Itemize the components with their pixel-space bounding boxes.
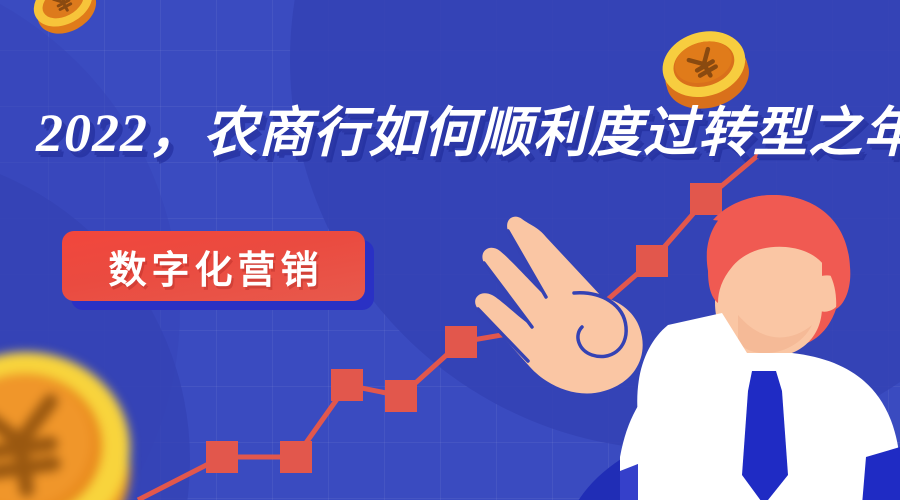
- chart-marker: [206, 441, 238, 473]
- coin-bottomleft: [0, 330, 168, 500]
- title-text: 农商行如何顺利度过转型之年: [203, 103, 900, 163]
- tie-shape: [742, 371, 788, 500]
- hand-shape: [475, 217, 643, 394]
- badge-surface: 数字化营销: [62, 231, 365, 301]
- chart-marker: [331, 369, 363, 401]
- page-title: 2022，农商行如何顺利度过转型之年: [36, 104, 856, 162]
- title-year: 2022: [36, 103, 148, 163]
- businessman-illustration: [470, 185, 900, 500]
- title-separator: ，: [148, 103, 203, 163]
- chart-marker: [385, 380, 417, 412]
- poster-canvas: 2022，农商行如何顺利度过转型之年 数字化营销: [0, 0, 900, 500]
- badge-label: 数字化营销: [103, 239, 323, 294]
- chart-marker: [280, 441, 312, 473]
- badge: 数字化营销: [62, 231, 365, 301]
